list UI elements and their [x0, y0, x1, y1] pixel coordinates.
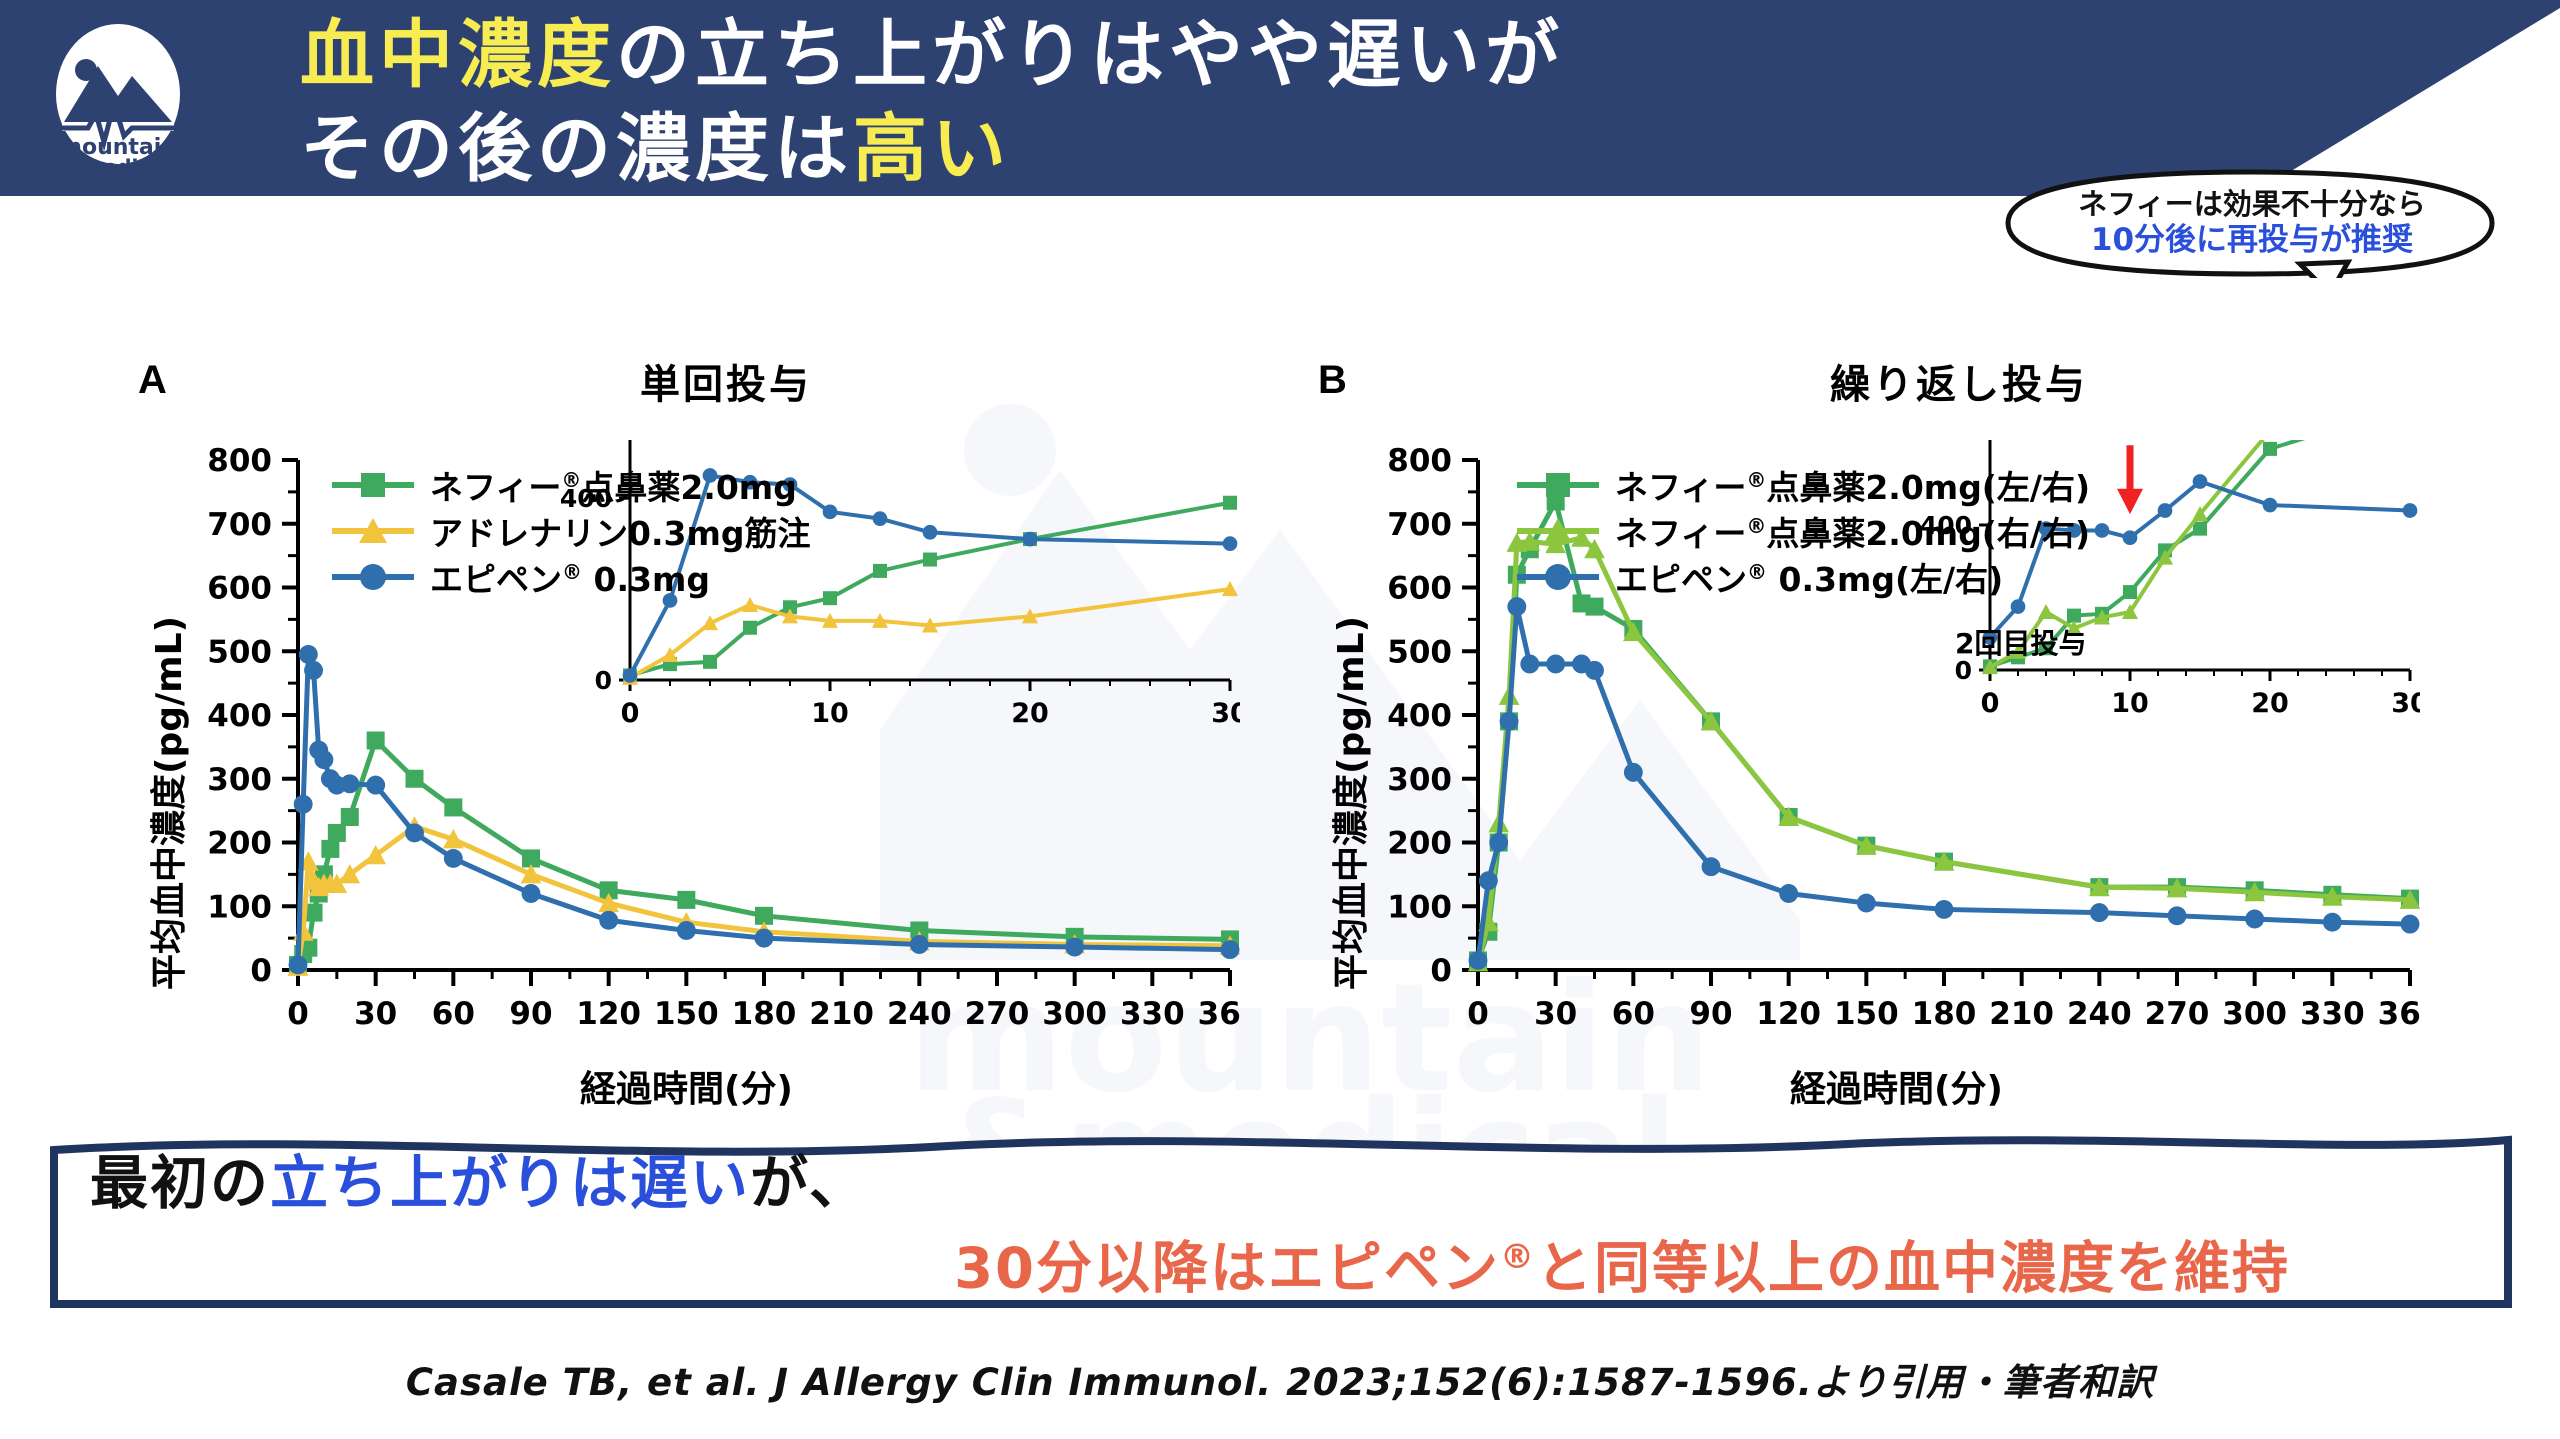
svg-text:600: 600: [207, 571, 272, 607]
svg-text:0: 0: [621, 698, 640, 729]
svg-text:700: 700: [1387, 507, 1452, 543]
summary-line-1-a: 最初の: [90, 1149, 270, 1217]
title-line-2: その後の濃度は高い: [300, 102, 1564, 196]
panel-a-letter: A: [138, 358, 167, 403]
svg-text:10: 10: [811, 698, 849, 729]
legend-item-epipen-a[interactable]: エピペン® 0.3mg: [330, 554, 810, 600]
svg-text:&medical: &medical: [65, 155, 170, 179]
legend-label-epipen-a: エピペン® 0.3mg: [430, 553, 710, 601]
svg-text:90: 90: [509, 996, 552, 1032]
svg-text:330: 330: [2300, 996, 2365, 1032]
svg-text:500: 500: [207, 634, 272, 670]
svg-text:20: 20: [2251, 688, 2289, 719]
svg-text:300: 300: [2222, 996, 2287, 1032]
summary-line-2: 30分以降はエピペン®と同等以上の血中濃度を維持: [90, 1220, 2470, 1307]
svg-text:600: 600: [1387, 571, 1452, 607]
svg-text:180: 180: [732, 996, 797, 1032]
svg-text:30: 30: [1534, 996, 1577, 1032]
panel-a-x-axis-title: 経過時間(分): [580, 1060, 793, 1112]
title-line-1: 血中濃度の立ち上がりはやや遅いが: [300, 8, 1564, 102]
svg-text:0: 0: [1430, 953, 1452, 989]
svg-text:360: 360: [2378, 996, 2420, 1032]
triangle-marker-icon: [330, 517, 416, 545]
svg-text:180: 180: [1912, 996, 1977, 1032]
square-marker-icon: [1515, 471, 1601, 499]
svg-text:240: 240: [887, 996, 952, 1032]
title-line-1-highlight: 血中濃度: [300, 12, 616, 98]
svg-text:300: 300: [1387, 762, 1452, 798]
svg-text:270: 270: [965, 996, 1030, 1032]
legend-label-nefi-lr: ネフィー®点鼻薬2.0mg(左/右): [1615, 461, 2090, 509]
svg-text:240: 240: [2067, 996, 2132, 1032]
svg-text:360: 360: [1198, 996, 1240, 1032]
svg-text:100: 100: [207, 889, 272, 925]
svg-text:200: 200: [1387, 826, 1452, 862]
legend-item-adrenaline-a[interactable]: アドレナリン0.3mg筋注: [330, 508, 810, 554]
panel-a-legend: ネフィー®点鼻薬2.0mg アドレナリン0.3mg筋注 エピペン® 0.3mg: [330, 462, 810, 600]
svg-text:0: 0: [1981, 688, 2000, 719]
legend-item-nefi-rr[interactable]: ネフィー®点鼻薬2.0mg(右/右): [1515, 508, 2090, 554]
svg-text:210: 210: [809, 996, 874, 1032]
svg-text:0: 0: [595, 666, 612, 695]
panel-a-y-axis-title: 平均血中濃度(pg/mL): [140, 616, 192, 990]
circle-marker-icon: [330, 563, 416, 591]
summary-text: 最初の立ち上がりは遅いが、 30分以降はエピペン®と同等以上の血中濃度を維持: [90, 1146, 2470, 1307]
title-line-1-rest: の立ち上がりはやや遅いが: [616, 12, 1564, 98]
svg-text:150: 150: [1834, 996, 1899, 1032]
legend-item-nefi-a[interactable]: ネフィー®点鼻薬2.0mg: [330, 462, 810, 508]
panel-b-letter: B: [1318, 358, 1347, 403]
svg-text:0: 0: [250, 953, 272, 989]
svg-text:10: 10: [2111, 688, 2149, 719]
summary-line-1-b: 立ち上がりは遅い: [270, 1149, 750, 1217]
svg-text:800: 800: [1387, 443, 1452, 479]
brand-logo-icon: mountain &medical: [38, 18, 198, 180]
svg-text:30: 30: [2391, 688, 2420, 719]
svg-text:90: 90: [1689, 996, 1732, 1032]
citation-text: Casale TB, et al. J Allergy Clin Immunol…: [0, 1352, 2560, 1406]
title-line-2-rest: その後の濃度は: [300, 106, 853, 192]
callout-line-1: ネフィーは効果不十分なら: [2022, 186, 2482, 222]
svg-text:120: 120: [1756, 996, 1821, 1032]
panel-a-heading: 単回投与: [640, 352, 812, 410]
svg-text:30: 30: [354, 996, 397, 1032]
summary-line-1-c: が、: [750, 1149, 869, 1217]
svg-text:800: 800: [207, 443, 272, 479]
svg-text:270: 270: [2145, 996, 2210, 1032]
legend-label-nefi-rr: ネフィー®点鼻薬2.0mg(右/右): [1615, 507, 2090, 555]
svg-text:0: 0: [287, 996, 309, 1032]
svg-text:30: 30: [1211, 698, 1240, 729]
panel-b-legend: ネフィー®点鼻薬2.0mg(左/右) ネフィー®点鼻薬2.0mg(右/右) エピ…: [1515, 462, 2090, 600]
svg-text:300: 300: [1042, 996, 1107, 1032]
panel-b-x-axis-title: 経過時間(分): [1790, 1060, 2003, 1112]
svg-text:150: 150: [654, 996, 719, 1032]
square-marker-icon: [330, 471, 416, 499]
summary-line-1: 最初の立ち上がりは遅いが、: [90, 1146, 2470, 1220]
legend-item-epipen-lr[interactable]: エピペン® 0.3mg(左/右): [1515, 554, 2090, 600]
svg-text:20: 20: [1011, 698, 1049, 729]
svg-text:210: 210: [1989, 996, 2054, 1032]
legend-label-nefi-a: ネフィー®点鼻薬2.0mg: [430, 461, 797, 509]
callout-text: ネフィーは効果不十分なら 10分後に再投与が推奨: [2022, 186, 2482, 258]
title-line-2-highlight: 高い: [853, 106, 1011, 192]
svg-text:200: 200: [207, 826, 272, 862]
svg-text:100: 100: [1387, 889, 1452, 925]
svg-text:300: 300: [207, 762, 272, 798]
svg-text:120: 120: [576, 996, 641, 1032]
legend-label-epipen-lr: エピペン® 0.3mg(左/右): [1615, 553, 2003, 601]
callout-line-2: 10分後に再投与が推奨: [2022, 222, 2482, 258]
slide-title: 血中濃度の立ち上がりはやや遅いが その後の濃度は高い: [300, 8, 1564, 196]
svg-text:700: 700: [207, 507, 272, 543]
svg-text:0: 0: [1467, 996, 1489, 1032]
panel-b-inset-note: 2回目投与: [1955, 622, 2086, 662]
svg-text:60: 60: [432, 996, 475, 1032]
triangle-marker-icon: [1515, 517, 1601, 545]
svg-text:500: 500: [1387, 634, 1452, 670]
legend-label-adrenaline-a: アドレナリン0.3mg筋注: [430, 507, 810, 555]
svg-text:400: 400: [207, 698, 272, 734]
circle-marker-icon: [1515, 563, 1601, 591]
svg-text:400: 400: [1387, 698, 1452, 734]
legend-item-nefi-lr[interactable]: ネフィー®点鼻薬2.0mg(左/右): [1515, 462, 2090, 508]
panel-b-heading: 繰り返し投与: [1830, 352, 2088, 410]
svg-text:330: 330: [1120, 996, 1185, 1032]
svg-text:60: 60: [1612, 996, 1655, 1032]
panel-b-y-axis-title: 平均血中濃度(pg/mL): [1322, 616, 1374, 990]
